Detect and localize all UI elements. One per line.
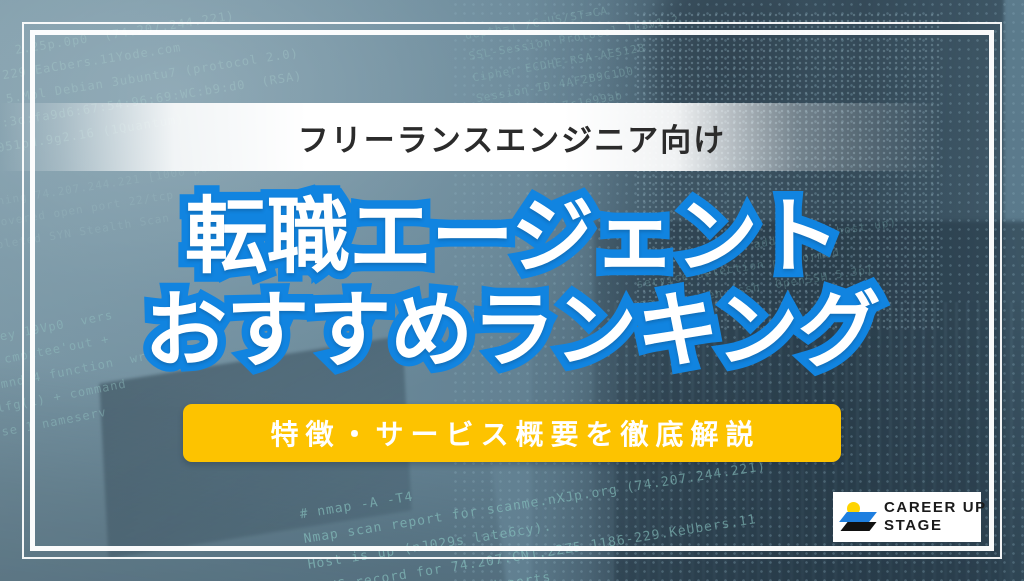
brand-logo-wordmark: CAREER UP STAGE bbox=[884, 499, 987, 534]
cta-text: 特徴・サービス概要を徹底解説 bbox=[263, 413, 760, 453]
sun-over-slabs-icon bbox=[842, 501, 876, 533]
subtitle-band: フリーランスエンジニア向け bbox=[0, 103, 1024, 171]
promo-banner: VERSION 2.25p.0p0 (74.207.244.221) ES 11… bbox=[0, 0, 1024, 581]
blue-slab-icon bbox=[839, 512, 877, 522]
brand-logo-line-1: CAREER UP bbox=[884, 499, 987, 517]
cta-banner[interactable]: 特徴・サービス概要を徹底解説 bbox=[183, 404, 841, 462]
black-slab-icon bbox=[840, 522, 876, 531]
brand-logo-line-2: STAGE bbox=[884, 517, 987, 535]
brand-logo[interactable]: CAREER UP STAGE bbox=[833, 492, 981, 542]
subtitle-text: フリーランスエンジニア向け bbox=[298, 115, 726, 160]
